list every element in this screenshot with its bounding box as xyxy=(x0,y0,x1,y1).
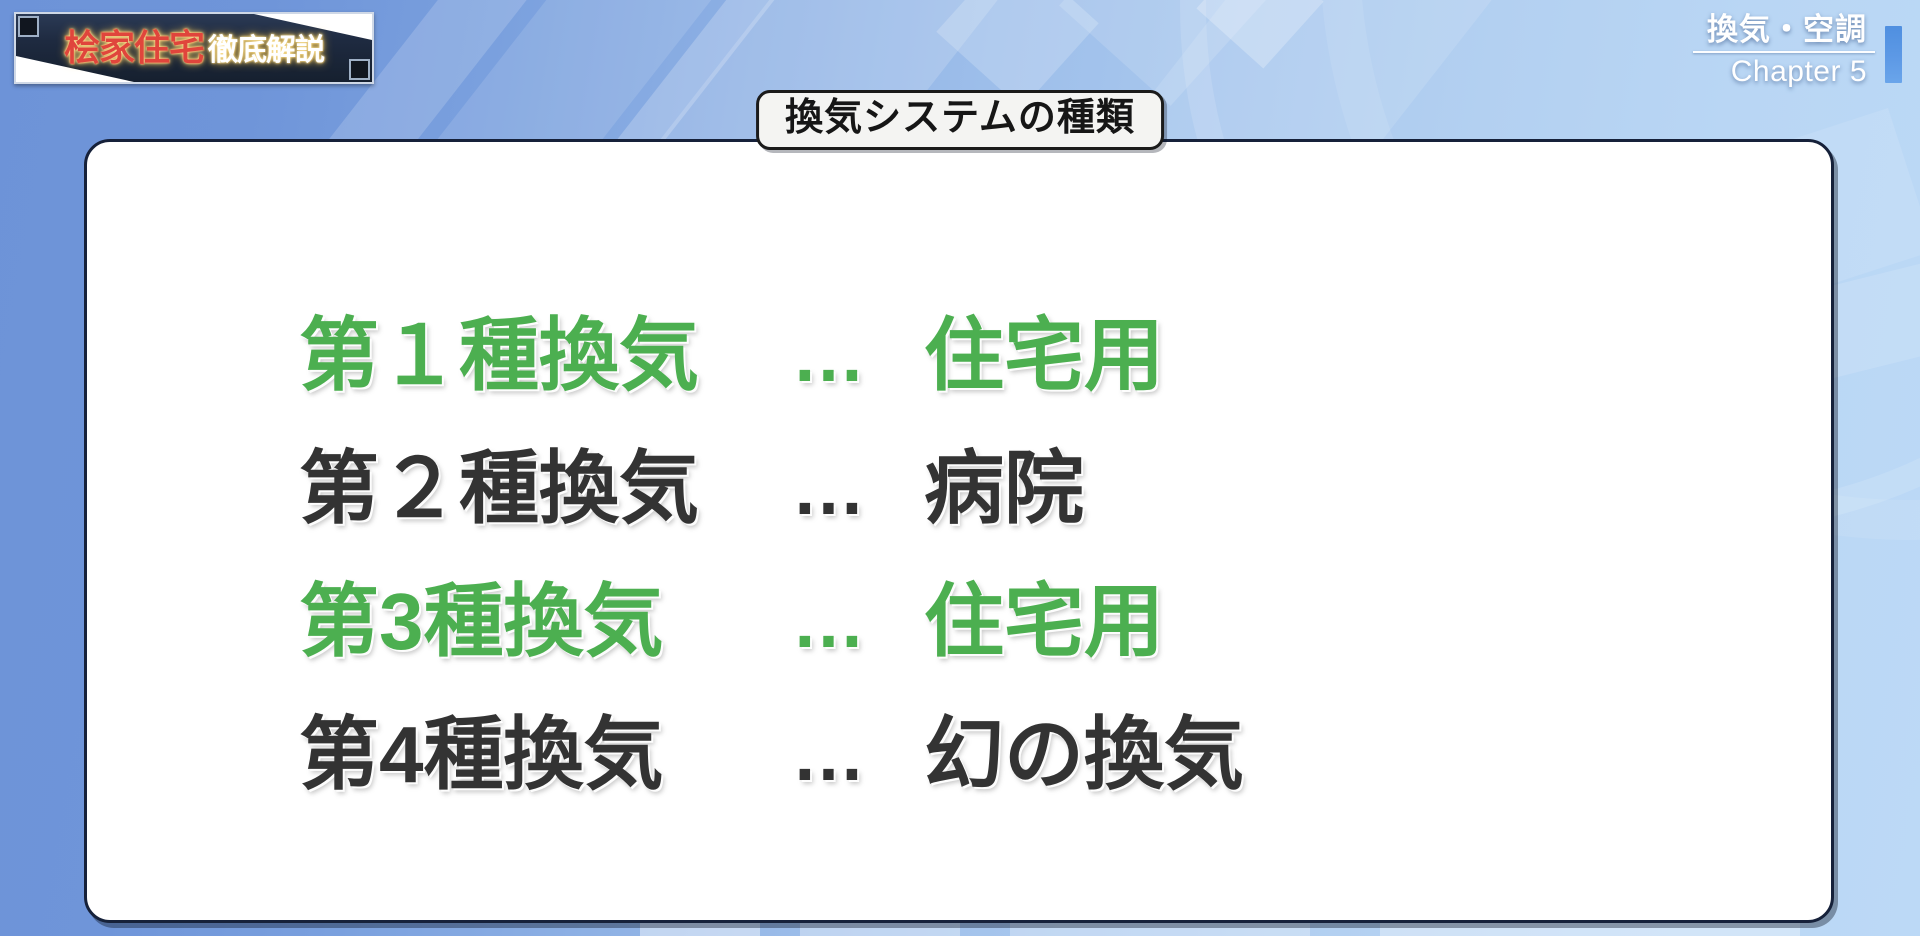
chapter-section-title: 換気・空調 xyxy=(1667,12,1875,50)
badge-brand-name: 桧家住宅 xyxy=(64,27,204,68)
chapter-accent-bar xyxy=(1885,26,1902,83)
chapter-text-stack: 換気・空調 Chapter 5 xyxy=(1667,12,1875,89)
row-separator: … xyxy=(739,452,924,526)
chapter-number-label: Chapter 5 xyxy=(1667,55,1875,90)
program-badge: 桧家住宅徹底解説 xyxy=(14,12,374,84)
ventilation-type-list: 第１種換気 … 住宅用 第２種換気 … 病院 第3種換気 … 住宅用 第4種換気… xyxy=(84,139,1834,923)
list-item: 第3種換気 … 住宅用 xyxy=(84,555,1834,688)
row-use: 病院 xyxy=(924,449,1084,529)
row-separator: … xyxy=(739,718,924,792)
list-item: 第２種換気 … 病院 xyxy=(84,422,1834,555)
badge-text: 桧家住宅徹底解説 xyxy=(16,30,372,66)
row-use: 住宅用 xyxy=(924,582,1164,662)
row-separator: … xyxy=(739,585,924,659)
bg-diamond xyxy=(1196,0,1323,69)
chapter-divider xyxy=(1693,51,1875,53)
slide-canvas: 桧家住宅徹底解説 換気・空調 Chapter 5 換気システムの種類 第１種換気… xyxy=(0,0,1920,936)
badge-subtitle: 徹底解説 xyxy=(208,34,324,67)
row-kind: 第4種換気 xyxy=(299,715,739,795)
row-kind: 第２種換気 xyxy=(299,449,739,529)
row-separator: … xyxy=(739,319,924,393)
panel-title-text: 換気システムの種類 xyxy=(785,99,1135,137)
row-use: 住宅用 xyxy=(924,316,1164,396)
chapter-label: 換気・空調 Chapter 5 xyxy=(1667,12,1902,89)
row-kind: 第3種換気 xyxy=(299,582,739,662)
list-item: 第4種換気 … 幻の換気 xyxy=(84,688,1834,821)
panel-title-pill: 換気システムの種類 xyxy=(756,90,1164,150)
row-kind: 第１種換気 xyxy=(299,316,739,396)
list-item: 第１種換気 … 住宅用 xyxy=(84,289,1834,422)
row-use: 幻の換気 xyxy=(924,715,1244,795)
